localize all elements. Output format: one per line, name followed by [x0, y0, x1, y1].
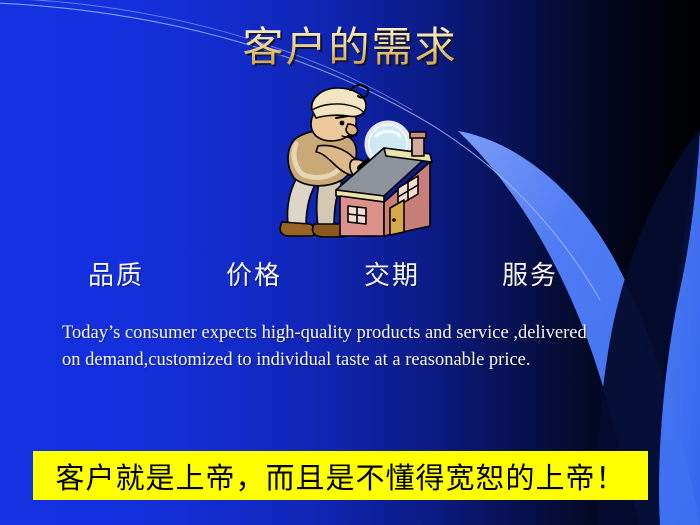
keyword-service: 服务	[502, 255, 558, 292]
clipart-shoe-left	[280, 222, 315, 236]
right-edge-panel-shape	[648, 0, 700, 525]
keyword-price: 价格	[226, 255, 282, 292]
clipart-nose	[346, 124, 358, 135]
keyword-row: 品质 价格 交期 服务	[88, 255, 558, 292]
keyword-delivery: 交期	[364, 255, 420, 292]
inspector-house-clipart	[272, 84, 454, 244]
clipart-house-chimney	[412, 136, 424, 156]
clipart-house-chimney-cap	[410, 132, 426, 138]
highlight-banner: 客户就是上帝，而且是不懂得宽恕的上帝！	[33, 451, 648, 500]
highlight-banner-text: 客户就是上帝，而且是不懂得宽恕的上帝！	[55, 455, 625, 497]
body-paragraph: Today’s consumer expects high-quality pr…	[62, 320, 592, 374]
presentation-slide: 客户的需求	[0, 0, 700, 525]
clipart-house-doorknob	[392, 218, 396, 222]
clipart-eye	[340, 121, 345, 126]
slide-title: 客户的需求	[0, 24, 700, 71]
keyword-quality: 品质	[88, 255, 144, 292]
clipart-hat	[312, 88, 366, 118]
